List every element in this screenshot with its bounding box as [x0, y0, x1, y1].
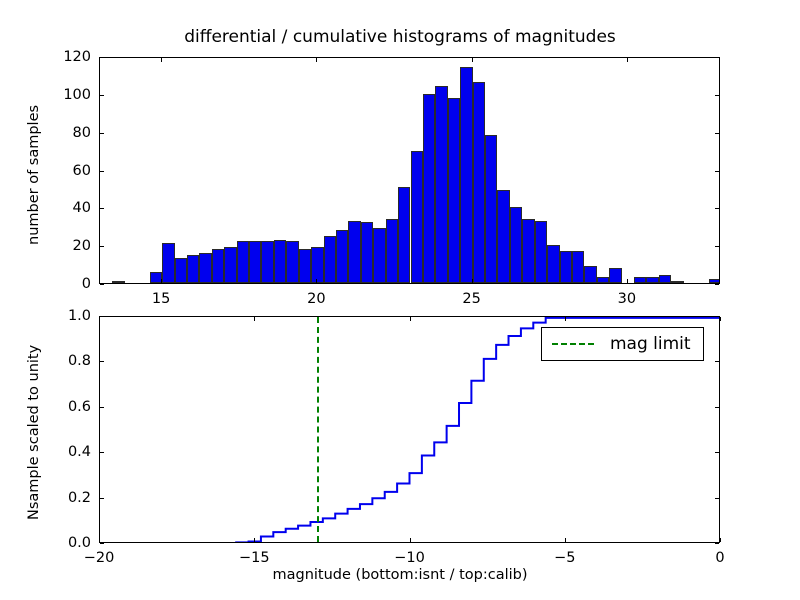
y-tick-mark — [100, 407, 104, 408]
histogram-bar — [299, 249, 311, 283]
chart-title: differential / cumulative histograms of … — [0, 27, 800, 47]
histogram-bar — [560, 251, 572, 283]
y-tick-label: 0 — [41, 276, 91, 292]
y-tick-label: 60 — [41, 163, 91, 179]
y-tick-mark — [715, 208, 719, 209]
x-tick-label: 0 — [715, 550, 724, 566]
histogram-bar — [175, 258, 187, 283]
x-tick-mark — [627, 58, 628, 62]
x-tick-mark — [410, 317, 411, 321]
x-tick-label: −5 — [554, 550, 575, 566]
x-tick-label: 20 — [307, 291, 325, 307]
x-tick-mark — [410, 538, 411, 542]
histogram-bar — [609, 268, 621, 283]
y-tick-mark — [100, 316, 104, 317]
y-tick-mark — [715, 361, 719, 362]
x-tick-mark — [99, 538, 100, 542]
histogram-bar — [423, 94, 435, 283]
histogram-bar — [274, 240, 286, 284]
histogram-bar — [237, 241, 249, 283]
y-tick-mark — [715, 543, 719, 544]
y-tick-label: 0.4 — [41, 444, 91, 460]
bottom-axes-y-axis-label: Nsample scaled to unity — [26, 345, 42, 520]
x-tick-mark — [472, 279, 473, 283]
mag-limit-line-icon — [552, 343, 594, 345]
x-tick-mark — [316, 279, 317, 283]
y-tick-mark — [715, 316, 719, 317]
y-tick-mark — [715, 95, 719, 96]
y-tick-mark — [100, 246, 104, 247]
y-tick-label: 0.0 — [41, 535, 91, 551]
y-tick-mark — [715, 284, 719, 285]
matplotlib-figure: differential / cumulative histograms of … — [0, 0, 800, 600]
y-tick-mark — [100, 57, 104, 58]
histogram-bar — [671, 281, 683, 283]
y-tick-label: 20 — [41, 238, 91, 254]
histogram-bar — [646, 277, 658, 283]
histogram-bar — [348, 221, 360, 283]
x-tick-label: 15 — [152, 291, 170, 307]
histogram-bar — [460, 67, 472, 283]
histogram-bar — [584, 266, 596, 283]
histogram-bar — [261, 241, 273, 283]
histogram-bar — [497, 190, 509, 283]
x-tick-mark — [627, 279, 628, 283]
x-tick-mark — [472, 58, 473, 62]
histogram-bar — [373, 228, 385, 283]
x-tick-mark — [720, 538, 721, 542]
top-axes-histogram — [99, 57, 720, 284]
histogram-bar — [572, 251, 584, 283]
histogram-bar — [398, 187, 410, 283]
y-tick-mark — [100, 208, 104, 209]
histogram-bar — [212, 249, 224, 283]
x-tick-mark — [254, 317, 255, 321]
x-tick-mark — [565, 317, 566, 321]
bottom-axes-x-axis-label: magnitude (bottom:isnt / top:calib) — [272, 567, 527, 583]
histogram-bar — [386, 219, 398, 283]
histogram-bar — [597, 277, 609, 283]
y-tick-mark — [100, 284, 104, 285]
y-tick-mark — [100, 171, 104, 172]
y-tick-mark — [715, 57, 719, 58]
x-tick-mark — [565, 538, 566, 542]
y-tick-mark — [715, 452, 719, 453]
histogram-bar — [473, 82, 485, 283]
y-tick-mark — [100, 498, 104, 499]
histogram-bar — [199, 253, 211, 283]
y-tick-label: 80 — [41, 125, 91, 141]
x-tick-mark — [161, 58, 162, 62]
y-tick-mark — [100, 95, 104, 96]
top-axes-y-axis-label: number of samples — [26, 105, 42, 245]
x-tick-mark — [99, 317, 100, 321]
histogram-bar — [224, 247, 236, 283]
histogram-bar — [286, 241, 298, 283]
x-tick-label: 25 — [462, 291, 480, 307]
x-tick-label: −10 — [394, 550, 425, 566]
histogram-bars-area — [100, 58, 719, 283]
x-tick-label: −20 — [84, 550, 115, 566]
y-tick-label: 120 — [41, 49, 91, 65]
legend-label-mag-limit: mag limit — [610, 334, 691, 354]
histogram-bar — [659, 275, 671, 283]
legend[interactable]: mag limit — [541, 327, 704, 361]
histogram-bar — [361, 222, 373, 283]
x-tick-label: −15 — [239, 550, 270, 566]
histogram-bar — [435, 86, 447, 283]
histogram-bar — [535, 221, 547, 283]
histogram-bar — [522, 219, 534, 283]
y-tick-label: 100 — [41, 87, 91, 103]
histogram-bar — [311, 247, 323, 283]
histogram-bar — [448, 98, 460, 283]
y-tick-mark — [715, 171, 719, 172]
x-tick-mark — [720, 317, 721, 321]
histogram-bar — [187, 255, 199, 283]
histogram-bar — [324, 236, 336, 283]
x-tick-mark — [316, 58, 317, 62]
y-tick-mark — [715, 133, 719, 134]
y-tick-mark — [100, 361, 104, 362]
x-tick-mark — [161, 279, 162, 283]
histogram-bar — [709, 279, 719, 283]
histogram-bar — [411, 151, 423, 283]
y-tick-mark — [100, 133, 104, 134]
histogram-bar — [485, 135, 497, 283]
histogram-bar — [162, 243, 174, 283]
histogram-bar — [336, 230, 348, 283]
y-tick-mark — [715, 498, 719, 499]
y-tick-mark — [715, 246, 719, 247]
x-tick-label: 30 — [618, 291, 636, 307]
histogram-bar — [634, 277, 646, 283]
y-tick-label: 40 — [41, 200, 91, 216]
histogram-bar — [547, 245, 559, 283]
histogram-bar — [249, 241, 261, 283]
histogram-bar — [112, 281, 124, 283]
y-tick-label: 0.6 — [41, 399, 91, 415]
x-tick-mark — [254, 538, 255, 542]
y-tick-mark — [100, 543, 104, 544]
y-tick-label: 0.2 — [41, 490, 91, 506]
histogram-bar — [510, 207, 522, 283]
mag-limit-line — [317, 317, 319, 542]
y-tick-label: 1.0 — [41, 308, 91, 324]
y-tick-mark — [715, 407, 719, 408]
y-tick-label: 0.8 — [41, 353, 91, 369]
y-tick-mark — [100, 452, 104, 453]
